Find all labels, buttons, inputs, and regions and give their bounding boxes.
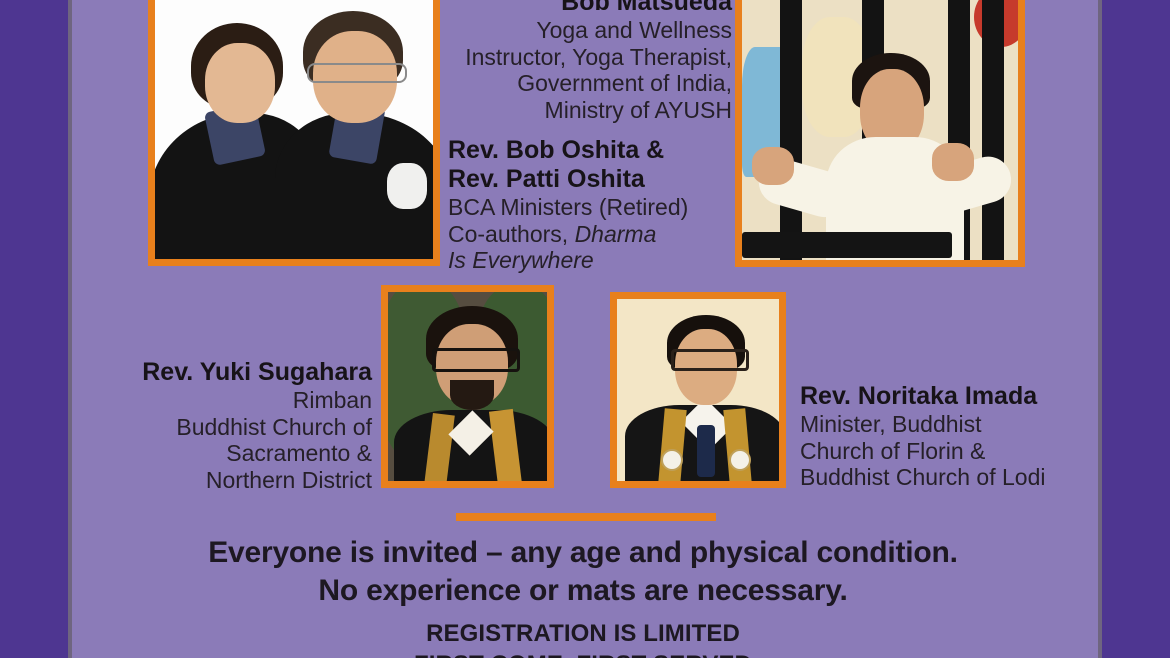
rev-bob-and-patti-oshita-photo — [148, 0, 440, 266]
book-title-part1: Dharma — [575, 221, 657, 247]
photo-shape — [697, 425, 715, 477]
speaker-role-line: Buddhist Church of Lodi — [800, 464, 1070, 491]
rev-yuki-sugahara-photo — [381, 285, 554, 488]
coauthors-prefix: Co-authors, — [448, 221, 575, 247]
speaker-role-line: Buddhist Church of — [110, 414, 372, 441]
eyeglasses-shape — [307, 63, 407, 83]
speaker-role-line: Church of Florin & — [800, 438, 1070, 465]
photo-shape — [387, 163, 427, 209]
speaker-bio-oshita: Rev. Bob Oshita & Rev. Patti Oshita BCA … — [448, 136, 738, 274]
bob-matsueda-photo — [735, 0, 1025, 267]
right-divider-rule — [1098, 0, 1102, 658]
speaker-name-imada: Rev. Noritaka Imada — [800, 382, 1070, 411]
footer-notice: Everyone is invited – any age and physic… — [68, 534, 1098, 658]
photo-shape — [661, 449, 683, 471]
eyeglasses-shape — [671, 349, 749, 371]
book-title-part2: Is Everywhere — [448, 247, 594, 273]
speaker-role-line: Is Everywhere — [448, 247, 738, 274]
photo-shape — [729, 449, 751, 471]
invitation-line-1: Everyone is invited – any age and physic… — [68, 534, 1098, 572]
speaker-bio-matsueda: Bob Matsueda Yoga and Wellness Instructo… — [440, 0, 732, 124]
left-decorative-band — [0, 0, 68, 658]
orange-divider-rule — [456, 513, 716, 521]
speaker-role-line: Sacramento & — [110, 440, 372, 467]
photo-shape — [932, 143, 974, 181]
speaker-role-line: Ministry of AYUSH — [440, 97, 732, 124]
speaker-role-line: Instructor, Yoga Therapist, — [440, 44, 732, 71]
right-decorative-band — [1102, 0, 1170, 658]
speaker-name-sugahara: Rev. Yuki Sugahara — [110, 358, 372, 387]
photo-shape — [205, 43, 275, 123]
speaker-name-matsueda: Bob Matsueda — [440, 0, 732, 17]
speaker-role-line: BCA Ministers (Retired) — [448, 194, 738, 221]
photo-shape — [780, 0, 802, 260]
rev-noritaka-imada-photo — [610, 292, 786, 488]
photo-shape — [742, 232, 952, 258]
registration-limited-line: REGISTRATION IS LIMITED — [68, 619, 1098, 650]
flyer-page: Bob Matsueda Yoga and Wellness Instructo… — [0, 0, 1170, 658]
eyeglasses-shape — [432, 348, 520, 372]
photo-shape — [752, 147, 794, 185]
speaker-role-line: Co-authors, Dharma — [448, 221, 738, 248]
first-come-first-served-line: FIRST COME, FIRST SERVED — [68, 650, 1098, 658]
photo-shape — [450, 380, 494, 410]
speaker-bio-sugahara: Rev. Yuki Sugahara Rimban Buddhist Churc… — [110, 358, 372, 494]
speaker-role-line: Government of India, — [440, 70, 732, 97]
speaker-name-oshita-line2: Rev. Patti Oshita — [448, 165, 738, 194]
speaker-name-oshita-line1: Rev. Bob Oshita & — [448, 136, 738, 165]
speaker-bio-imada: Rev. Noritaka Imada Minister, Buddhist C… — [800, 382, 1070, 491]
speaker-role-line: Rimban — [110, 387, 372, 414]
invitation-line-2: No experience or mats are necessary. — [68, 572, 1098, 610]
speaker-role-line: Yoga and Wellness — [440, 17, 732, 44]
speaker-role-line: Northern District — [110, 467, 372, 494]
photo-shape — [982, 0, 1004, 260]
speaker-role-line: Minister, Buddhist — [800, 411, 1070, 438]
